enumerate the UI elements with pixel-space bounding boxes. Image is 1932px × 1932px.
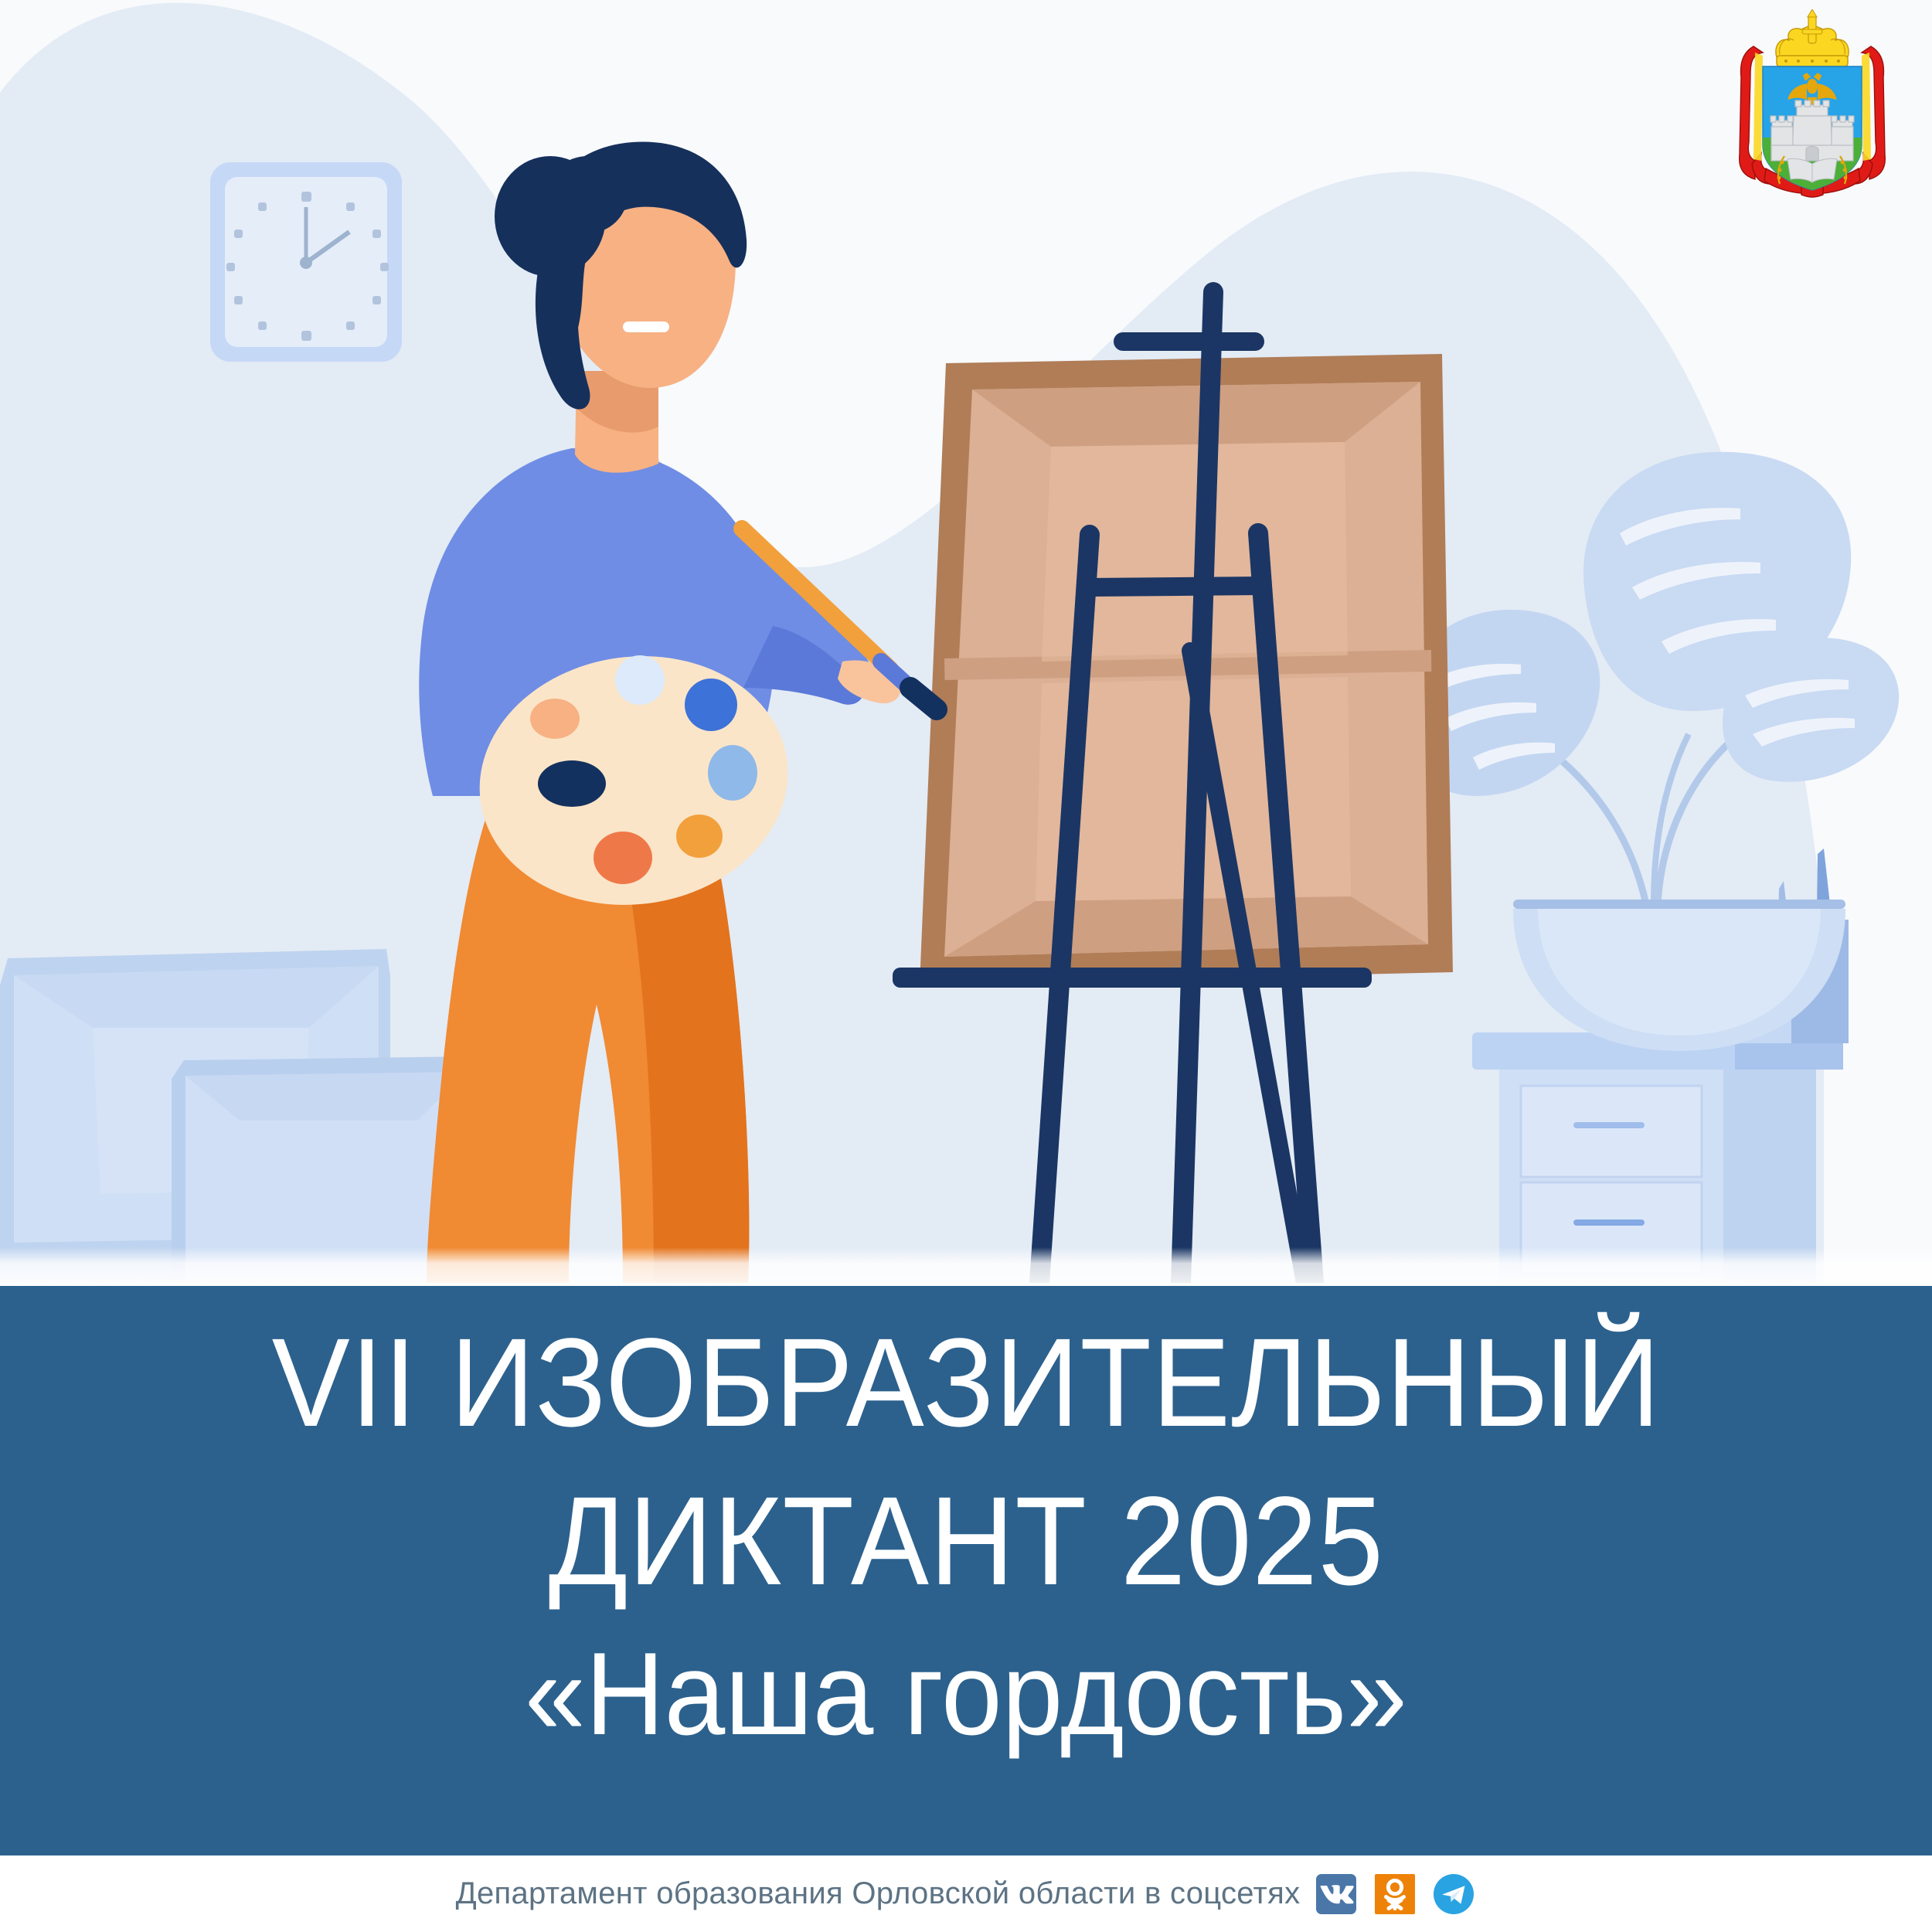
wall-clock xyxy=(210,162,402,362)
title-banner: VII ИЗОБРАЗИТЕЛЬНЫЙ ДИКТАНТ 2025 «Наша г… xyxy=(0,1286,1932,1855)
oryol-oblast-coat-of-arms-icon xyxy=(1729,9,1896,209)
illustration-scene xyxy=(0,0,1932,1283)
poster-root: VII ИЗОБРАЗИТЕЛЬНЫЙ ДИКТАНТ 2025 «Наша г… xyxy=(0,0,1932,1932)
footer-bar: Департамент образования Орловской област… xyxy=(0,1855,1932,1932)
crown xyxy=(1776,9,1849,66)
shield xyxy=(1763,66,1862,190)
footer-label: Департамент образования Орловской област… xyxy=(456,1876,1301,1911)
title-line-3: «Наша гордость» xyxy=(525,1621,1407,1769)
ok-icon[interactable] xyxy=(1372,1872,1417,1917)
vk-icon[interactable] xyxy=(1314,1872,1359,1917)
cabinet xyxy=(1472,1032,1843,1283)
title-line-2: ДИКТАНТ 2025 xyxy=(548,1461,1383,1620)
title-line-1: VII ИЗОБРАЗИТЕЛЬНЫЙ xyxy=(271,1303,1661,1461)
telegram-icon[interactable] xyxy=(1431,1872,1476,1917)
